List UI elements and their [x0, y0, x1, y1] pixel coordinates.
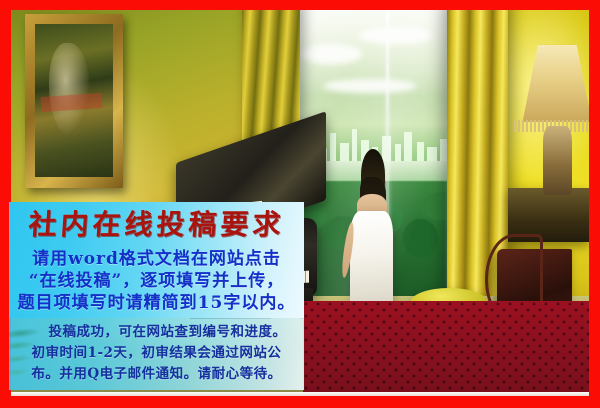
bottom-hairline [11, 392, 589, 396]
note-line: 投稿成功，可在网站查到编号和进度。 [19, 322, 294, 343]
instructions-text: 请用word格式文档在网站点击 “在线投稿”，逐项填写并上传， 题目项填写时请精… [9, 248, 304, 314]
white-dress [350, 211, 393, 315]
red-patterned-carpet [303, 301, 589, 396]
framed-artwork [25, 14, 123, 188]
instruction-line: 请用word格式文档在网站点击 [9, 248, 304, 270]
instruction-line: 题目项填写时请精简到15字以内。 [9, 292, 304, 314]
woman-in-white-dress [343, 149, 401, 323]
note-line: 布。并用Q电子邮件通知。请耐心等待。 [19, 364, 294, 385]
poster-image: 社内在线投稿要求 请用word格式文档在网站点击 “在线投稿”，逐项填写并上传，… [0, 0, 600, 408]
artwork-canvas [35, 24, 114, 177]
instruction-line: “在线投稿”，逐项填写并上传， [9, 270, 304, 292]
followup-note-text: 投稿成功，可在网站查到编号和进度。 初审时间1-2天，初审结果会通过网站公 布。… [9, 322, 304, 385]
poster-title: 社内在线投稿要求 [8, 208, 305, 242]
note-line: 初审时间1-2天，初审结果会通过网站公 [19, 343, 294, 364]
table-lamp-base [543, 126, 572, 195]
